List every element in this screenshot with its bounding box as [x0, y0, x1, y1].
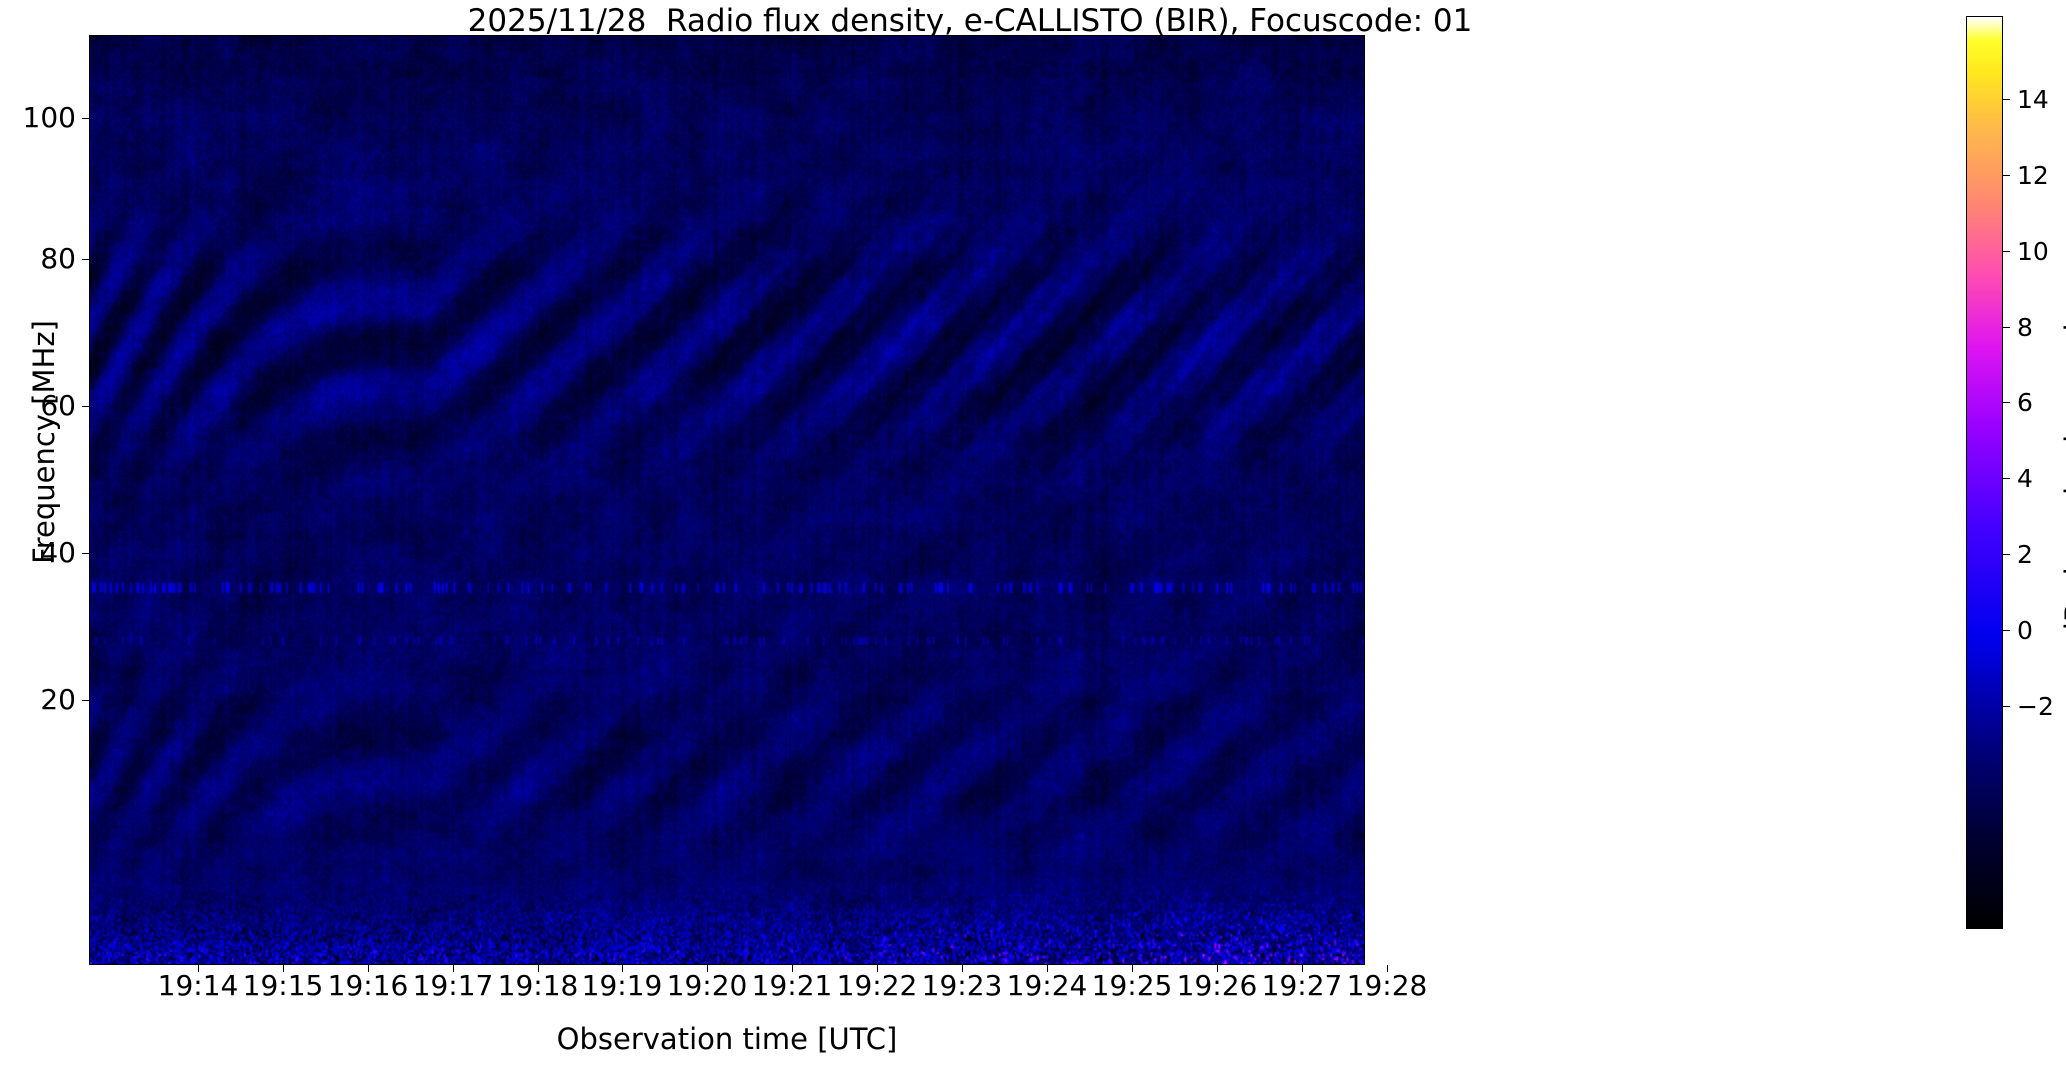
colorbar-gradient [1967, 17, 2002, 928]
x-tick-label: 19:28 [1312, 972, 1462, 1000]
colorbar-tick-label: 12 [2017, 163, 2066, 188]
y-tick-mark [82, 118, 89, 119]
colorbar-tick-mark [2003, 99, 2010, 100]
colorbar[interactable] [1966, 16, 2003, 929]
colorbar-label: dB above background [2059, 202, 2066, 762]
page-title: 2025/11/28 Radio flux density, e-CALLIST… [120, 4, 1820, 38]
y-tick-mark [82, 700, 89, 701]
colorbar-tick-label: 14 [2017, 87, 2066, 112]
y-axis-label: Frequency [MHz] [27, 122, 61, 762]
y-tick-label: 100 [0, 104, 76, 132]
y-tick-mark [82, 553, 89, 554]
colorbar-tick-mark [2003, 706, 2010, 707]
spectrogram-axes[interactable] [89, 35, 1365, 965]
y-tick-label: 60 [0, 392, 76, 420]
colorbar-tick-mark [2003, 175, 2010, 176]
y-tick-label: 20 [0, 686, 76, 714]
y-tick-mark [82, 259, 89, 260]
x-axis-label: Observation time [UTC] [89, 1022, 1365, 1056]
spectrogram-figure: 2025/11/28 Radio flux density, e-CALLIST… [0, 0, 2066, 1067]
colorbar-tick-mark [2003, 402, 2010, 403]
y-tick-mark [82, 406, 89, 407]
colorbar-tick-mark [2003, 630, 2010, 631]
colorbar-tick-mark [2003, 327, 2010, 328]
y-tick-label: 80 [0, 245, 76, 273]
colorbar-tick-mark [2003, 554, 2010, 555]
colorbar-tick-mark [2003, 478, 2010, 479]
y-tick-label: 40 [0, 539, 76, 567]
spectrogram-image [90, 36, 1364, 964]
colorbar-tick-mark [2003, 251, 2010, 252]
